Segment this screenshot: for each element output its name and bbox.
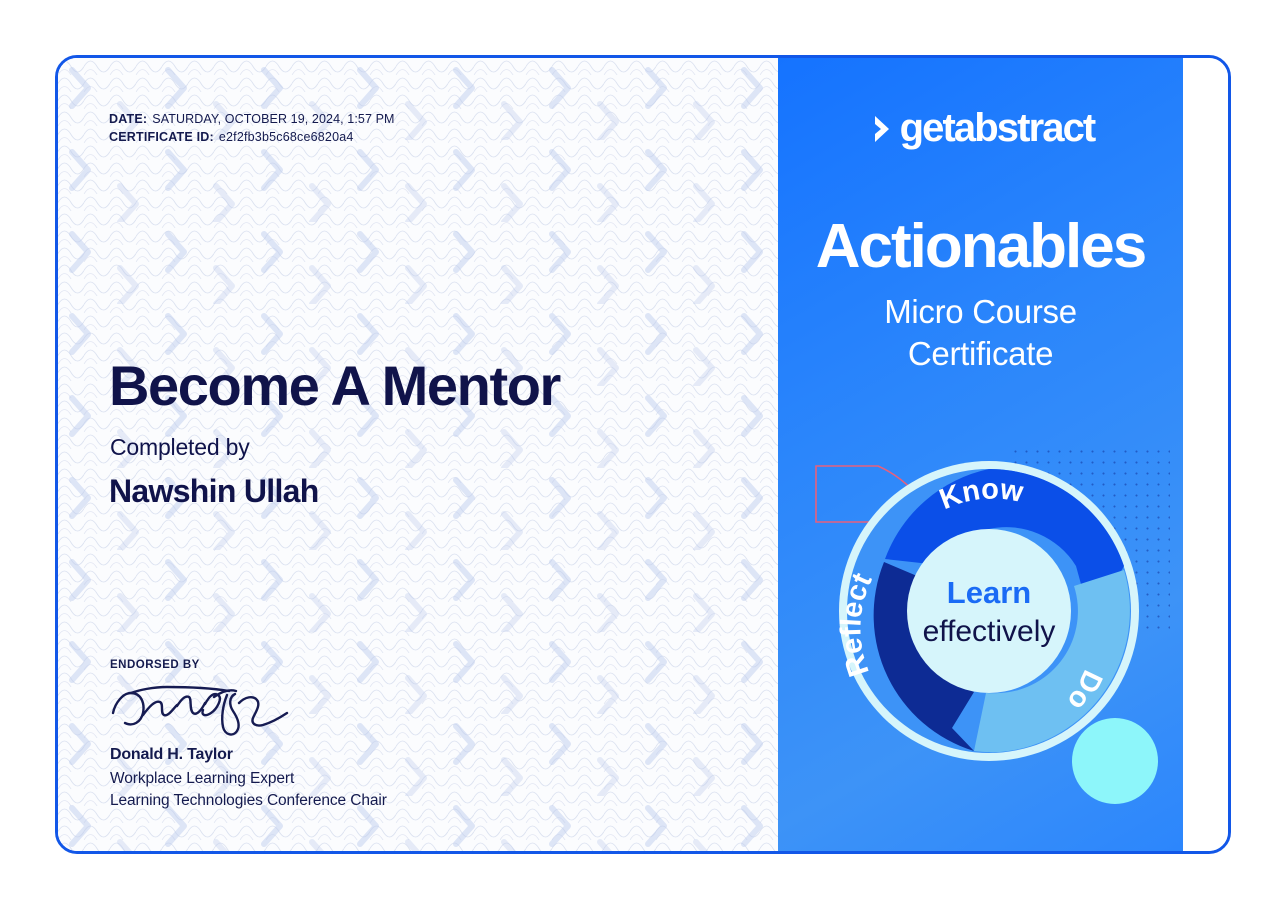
panel-subtitle-line-2: Certificate <box>778 333 1183 375</box>
panel-title: Actionables <box>778 216 1183 278</box>
certificate-id-row: CERTIFICATE ID:e2f2fb3b5c68ce6820a4 <box>109 128 395 146</box>
certificate-date-row: DATE:SATURDAY, OCTOBER 19, 2024, 1:57 PM <box>109 110 395 128</box>
recipient-name: Nawshin Ullah <box>109 473 319 510</box>
getabstract-logo: getabstract <box>778 106 1183 151</box>
certificate-left-panel: DATE:SATURDAY, OCTOBER 19, 2024, 1:57 PM… <box>58 58 778 851</box>
getabstract-logo-text: getabstract <box>900 106 1095 151</box>
panel-subtitle: Micro Course Certificate <box>778 291 1183 375</box>
certificate-date-value: SATURDAY, OCTOBER 19, 2024, 1:57 PM <box>152 112 394 126</box>
endorser-role-line-2: Learning Technologies Conference Chair <box>110 792 387 810</box>
course-title: Become A Mentor <box>109 353 560 418</box>
certificate-card: DATE:SATURDAY, OCTOBER 19, 2024, 1:57 PM… <box>55 55 1231 854</box>
endorser-role-line-1: Workplace Learning Expert <box>110 770 294 788</box>
accent-circle <box>1072 718 1158 804</box>
signature-icon <box>105 673 315 741</box>
chevron-logo-icon <box>867 107 899 151</box>
endorsed-by-label: ENDORSED BY <box>110 659 200 671</box>
right-white-strip <box>1183 58 1231 851</box>
endorser-name: Donald H. Taylor <box>110 746 233 764</box>
certificate-id-value: e2f2fb3b5c68ce6820a4 <box>219 130 354 144</box>
certificate-right-panel: getabstract Actionables Micro Course Cer… <box>778 58 1183 851</box>
certificate-date-label: DATE: <box>109 112 147 126</box>
certificate-id-label: CERTIFICATE ID: <box>109 130 214 144</box>
panel-subtitle-line-1: Micro Course <box>778 291 1183 333</box>
wheel-center-line-2: effectively <box>923 615 1056 648</box>
wheel-center-line-1: Learn <box>947 575 1031 610</box>
completed-by-label: Completed by <box>110 434 250 461</box>
certificate-meta: DATE:SATURDAY, OCTOBER 19, 2024, 1:57 PM… <box>109 110 395 146</box>
